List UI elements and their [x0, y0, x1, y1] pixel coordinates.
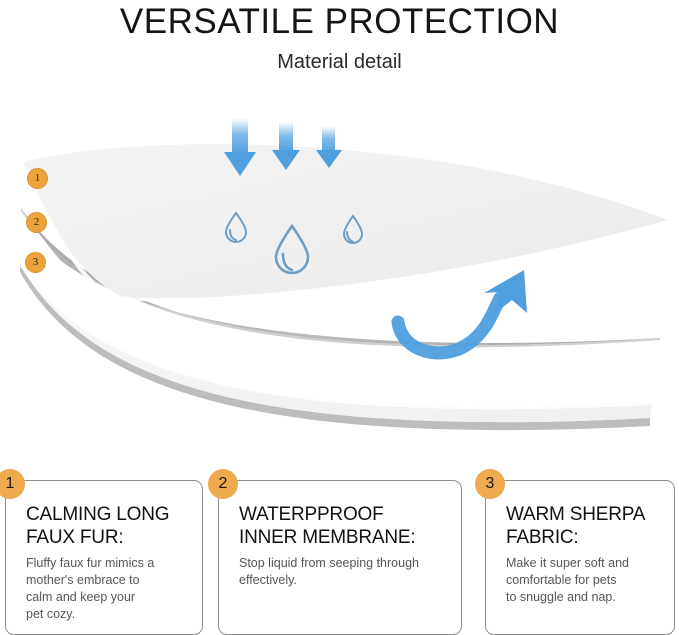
- card-body: CALMING LONG FAUX FUR: Fluffy faux fur m…: [6, 481, 202, 623]
- feature-card-2: 2 WATERPPROOF INNER MEMBRANE: Stop liqui…: [218, 480, 462, 635]
- card-heading: WATERPPROOF INNER MEMBRANE:: [239, 503, 451, 549]
- diagram-marker-2: 2: [26, 212, 47, 233]
- feature-card-1: 1 CALMING LONG FAUX FUR: Fluffy faux fur…: [5, 480, 203, 635]
- layered-material-diagram: 1 2 3: [0, 100, 679, 450]
- card-heading: CALMING LONG FAUX FUR:: [26, 503, 192, 549]
- card-description: Make it super soft and comfortable for p…: [506, 549, 664, 606]
- card-description: Fluffy faux fur mimics a mother's embrac…: [26, 549, 192, 623]
- card-badge-3: 3: [475, 469, 505, 499]
- card-description: Stop liquid from seeping through effecti…: [239, 549, 451, 589]
- card-badge-2: 2: [208, 469, 238, 499]
- card-body: WATERPPROOF INNER MEMBRANE: Stop liquid …: [219, 481, 461, 589]
- layer-stack-illustration: [0, 100, 679, 450]
- page-subtitle: Material detail: [0, 42, 679, 74]
- page-title: VERSATILE PROTECTION: [0, 0, 679, 42]
- diagram-marker-1: 1: [27, 168, 48, 189]
- diagram-marker-3: 3: [25, 252, 46, 273]
- card-body: WARM SHERPA FABRIC: Make it super soft a…: [486, 481, 674, 606]
- header: VERSATILE PROTECTION Material detail: [0, 0, 679, 74]
- layer-1-top-surface: [21, 144, 668, 302]
- feature-card-3: 3 WARM SHERPA FABRIC: Make it super soft…: [485, 480, 675, 635]
- curved-repel-arrow-icon: [398, 270, 527, 353]
- card-heading: WARM SHERPA FABRIC:: [506, 503, 664, 549]
- feature-cards: 1 CALMING LONG FAUX FUR: Fluffy faux fur…: [0, 470, 679, 635]
